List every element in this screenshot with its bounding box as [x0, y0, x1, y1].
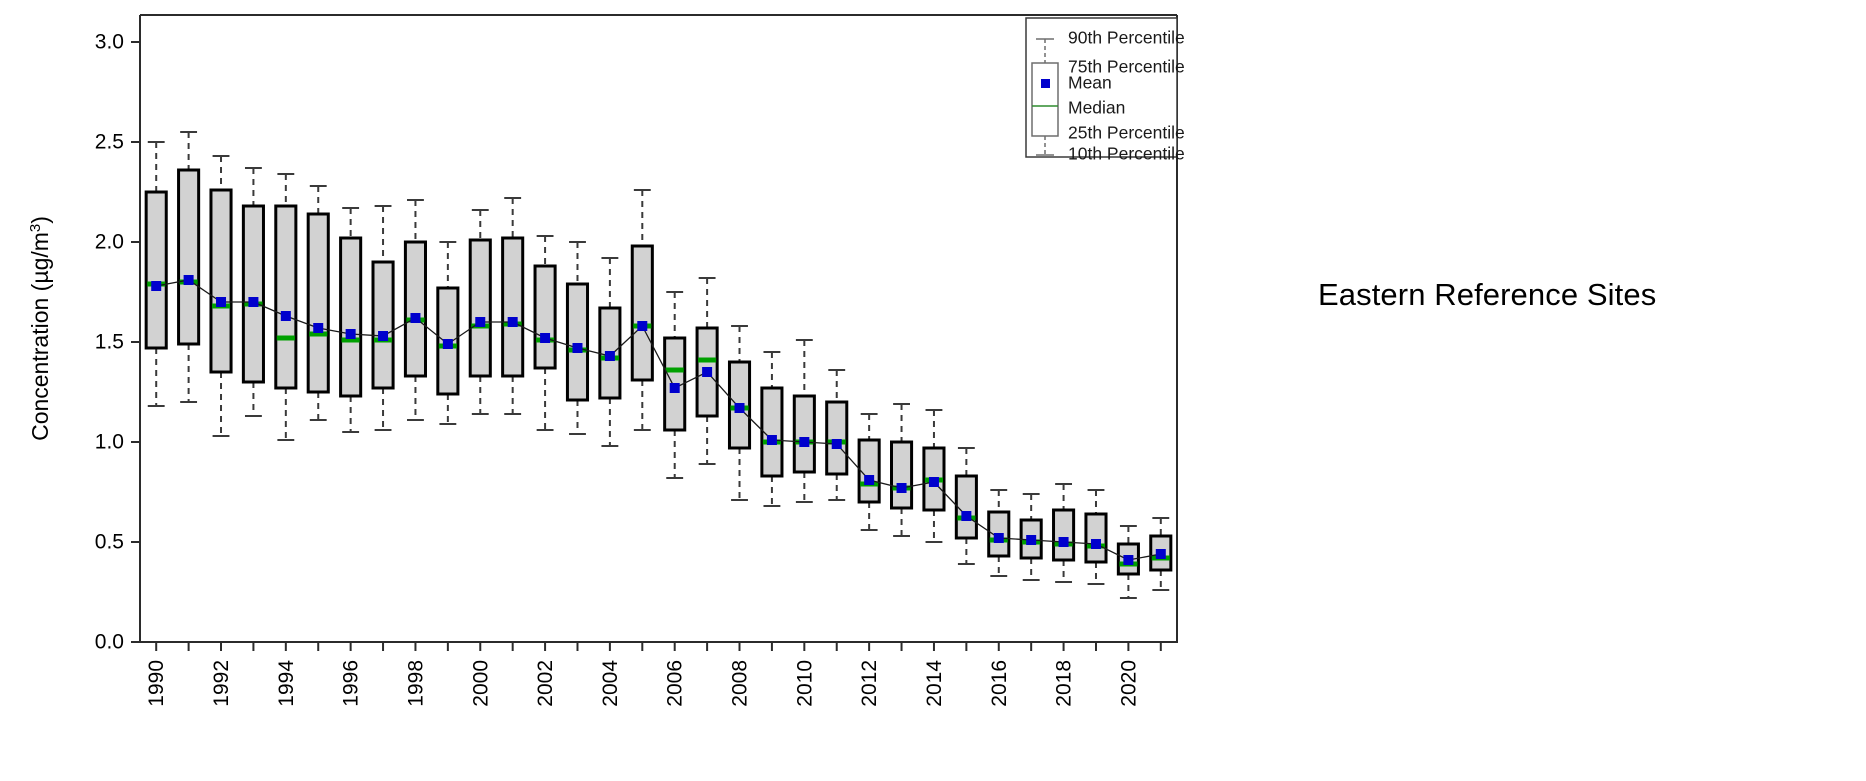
chart-page: 0.00.51.01.52.02.53.0 199019921994199619…: [0, 0, 1866, 781]
box-iqr: [535, 266, 555, 368]
box-plot-1990: [146, 142, 166, 406]
mean-marker-1990: [151, 281, 161, 291]
box-plot-2018: [1054, 484, 1074, 582]
box-iqr: [632, 246, 652, 380]
box-iqr: [308, 214, 328, 392]
mean-marker-2009: [767, 435, 777, 445]
x-tick-label: 2008: [729, 660, 752, 707]
x-tick-label: 2010: [793, 660, 816, 707]
box-plot-1995: [308, 186, 328, 420]
legend-label-green-line-icon: Median: [1068, 98, 1125, 118]
mean-marker-2013: [897, 483, 907, 493]
mean-marker-2004: [605, 351, 615, 361]
box-iqr: [146, 192, 166, 348]
mean-marker-2011: [832, 439, 842, 449]
box-iqr: [503, 238, 523, 376]
box-iqr: [1054, 510, 1074, 560]
mean-marker-2021: [1156, 549, 1166, 559]
x-tick-label: 2004: [599, 660, 622, 707]
x-tick-label: 1996: [340, 660, 363, 707]
x-tick-label: 2018: [1053, 660, 1076, 707]
box-iqr: [211, 190, 231, 372]
box-plots-layer: [146, 132, 1171, 598]
mean-marker-2017: [1026, 535, 1036, 545]
box-plot-1996: [341, 208, 361, 432]
box-iqr: [373, 262, 393, 388]
box-iqr: [243, 206, 263, 382]
box-plot-2000: [470, 210, 490, 414]
box-plot-2019: [1086, 490, 1106, 584]
box-iqr: [276, 206, 296, 388]
legend-blue-square-icon: [1041, 79, 1050, 88]
box-plot-1994: [276, 174, 296, 440]
mean-marker-2003: [572, 343, 582, 353]
mean-marker-2002: [540, 333, 550, 343]
mean-marker-2020: [1123, 555, 1133, 565]
mean-marker-1998: [410, 313, 420, 323]
box-iqr: [762, 388, 782, 476]
y-tick-label: 0.0: [95, 631, 124, 654]
box-plot-1997: [373, 206, 393, 430]
mean-trend-line: [151, 275, 1166, 565]
chart-legend: 90th Percentile75th PercentileMeanMedian…: [1026, 18, 1185, 164]
box-iqr: [179, 170, 199, 344]
site-group-label: Eastern Reference Sites: [1318, 277, 1778, 313]
box-iqr: [470, 240, 490, 376]
x-tick-label: 2012: [858, 660, 881, 707]
mean-marker-1991: [184, 275, 194, 285]
y-tick-label: 1.0: [95, 431, 124, 454]
box-iqr: [794, 396, 814, 472]
box-iqr: [567, 284, 587, 400]
mean-marker-2015: [961, 511, 971, 521]
x-tick-label: 2020: [1117, 660, 1140, 707]
box-plot-2005: [632, 190, 652, 430]
y-tick-label: 2.5: [95, 131, 124, 154]
x-tick-label: 1994: [275, 660, 298, 707]
box-iqr: [341, 238, 361, 396]
mean-marker-1994: [281, 311, 291, 321]
y-tick-label: 1.5: [95, 331, 124, 354]
box-plot-1999: [438, 242, 458, 424]
box-iqr: [956, 476, 976, 538]
x-tick-label: 1990: [145, 660, 168, 707]
mean-marker-2006: [670, 383, 680, 393]
box-plot-2010: [794, 340, 814, 502]
boxplot-svg: 0.00.51.01.52.02.53.0 199019921994199619…: [0, 0, 1250, 781]
box-plot-2013: [892, 404, 912, 536]
mean-marker-1997: [378, 331, 388, 341]
box-iqr: [892, 442, 912, 508]
mean-marker-2005: [637, 321, 647, 331]
mean-marker-1999: [443, 339, 453, 349]
box-plot-2015: [956, 448, 976, 564]
mean-marker-1995: [313, 323, 323, 333]
legend-label-whisker-cap-bottom-icon: 10th Percentile: [1068, 144, 1185, 164]
y-axis: 0.00.51.01.52.02.53.0: [95, 31, 140, 654]
mean-marker-2012: [864, 475, 874, 485]
x-tick-label: 2006: [664, 660, 687, 707]
box-plot-2014: [924, 410, 944, 542]
legend-label-whisker-cap-top-icon: 90th Percentile: [1068, 28, 1185, 48]
legend-box-icon: [1032, 63, 1058, 136]
y-tick-label: 2.0: [95, 231, 124, 254]
boxplot-figure: 0.00.51.01.52.02.53.0 199019921994199619…: [0, 0, 1250, 781]
x-tick-label: 2002: [534, 660, 557, 707]
y-tick-label: 3.0: [95, 31, 124, 54]
box-iqr: [1086, 514, 1106, 562]
box-iqr: [859, 440, 879, 502]
x-axis: 1990199219941996199820002002200420062008…: [145, 642, 1161, 707]
mean-marker-2014: [929, 477, 939, 487]
legend-label-blue-square-icon: Mean: [1068, 73, 1112, 93]
box-plot-1992: [211, 156, 231, 436]
mean-marker-2001: [508, 317, 518, 327]
mean-marker-1996: [346, 329, 356, 339]
mean-marker-2000: [475, 317, 485, 327]
box-iqr: [405, 242, 425, 376]
y-tick-label: 0.5: [95, 531, 124, 554]
legend-label-box-bottom-icon: 25th Percentile: [1068, 123, 1185, 143]
x-tick-label: 2014: [923, 660, 946, 707]
y-axis-title: Concentration (µg/m3): [27, 216, 54, 441]
mean-marker-2008: [735, 403, 745, 413]
box-iqr: [827, 402, 847, 474]
x-tick-label: 1992: [210, 660, 233, 707]
mean-marker-1992: [216, 297, 226, 307]
mean-marker-2016: [994, 533, 1004, 543]
x-tick-label: 2000: [469, 660, 492, 707]
x-tick-label: 2016: [988, 660, 1011, 707]
box-plot-1998: [405, 200, 425, 420]
mean-marker-2007: [702, 367, 712, 377]
box-plot-2003: [567, 242, 587, 434]
mean-marker-2019: [1091, 539, 1101, 549]
box-plot-1993: [243, 168, 263, 416]
box-plot-2009: [762, 352, 782, 506]
mean-marker-2018: [1059, 537, 1069, 547]
mean-marker-1993: [248, 297, 258, 307]
mean-marker-2010: [799, 437, 809, 447]
box-plot-2011: [827, 370, 847, 500]
x-tick-label: 1998: [404, 660, 427, 707]
box-plot-2001: [503, 198, 523, 414]
box-plot-1991: [179, 132, 199, 402]
